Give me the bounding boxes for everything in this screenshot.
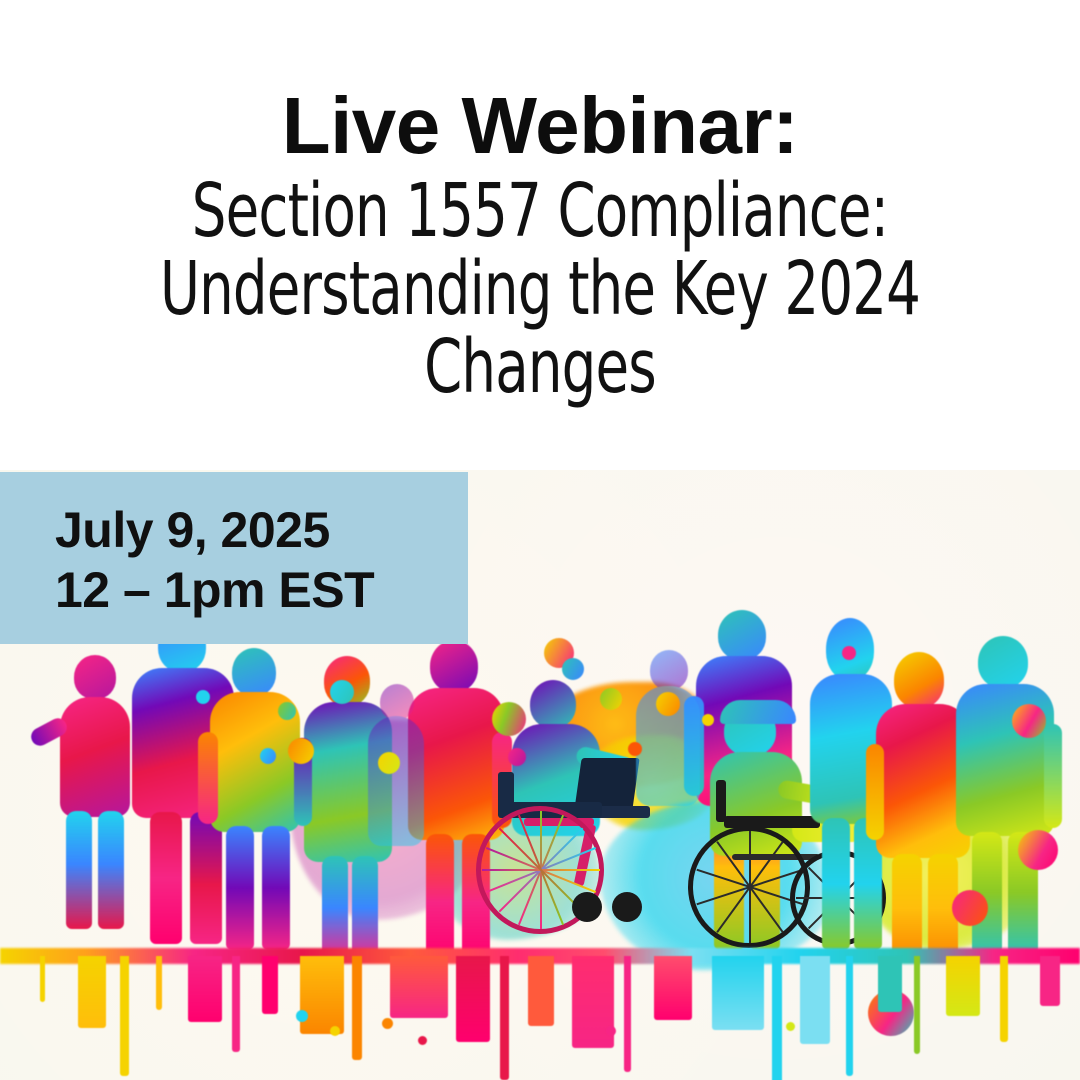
person-silhouette-12 (636, 650, 702, 820)
paint-dot (330, 1026, 340, 1036)
gradient-sphere-12 (1012, 704, 1046, 738)
paint-drip (120, 956, 129, 1076)
paint-drip (78, 956, 106, 1028)
person-silhouette-1 (52, 655, 138, 955)
paint-drip (1040, 956, 1060, 1006)
gradient-sphere-4 (600, 688, 622, 710)
page-subtitle: Section 1557 Compliance: Understanding t… (97, 172, 983, 406)
person-silhouette-13 (368, 684, 426, 864)
wheelchair-left-back (498, 772, 514, 818)
date-time-badge: July 9, 2025 12 – 1pm EST (0, 472, 468, 644)
paint-drip (156, 956, 162, 1010)
gradient-sphere-6 (508, 748, 526, 766)
gradient-sphere-5 (656, 692, 680, 716)
gradient-sphere-2 (562, 658, 584, 680)
gradient-sphere-9 (288, 738, 314, 764)
gradient-sphere-11 (260, 748, 276, 764)
wheelchair-left (468, 788, 658, 938)
page-title: Live Webinar: (0, 84, 1080, 168)
paint-drip (500, 956, 509, 1080)
paint-drip (300, 956, 344, 1034)
header-block: Live Webinar: Section 1557 Compliance: U… (0, 0, 1080, 470)
paint-dot (382, 1018, 393, 1029)
webinar-date: July 9, 2025 (55, 500, 374, 560)
paint-drip (1000, 956, 1008, 1042)
paint-drip (232, 956, 240, 1052)
paint-drip (624, 956, 631, 1072)
paint-drip (188, 956, 222, 1022)
gradient-sphere-3 (492, 702, 526, 736)
paint-drip (878, 956, 902, 1012)
wheelchair-left-caster-rear (612, 892, 642, 922)
cap-icon (720, 700, 796, 724)
paint-drip (712, 956, 764, 1030)
webinar-poster: Live Webinar: Section 1557 Compliance: U… (0, 0, 1080, 1080)
person-silhouette-3 (208, 648, 304, 960)
paint-drip (262, 956, 278, 1014)
gradient-sphere-14 (952, 890, 988, 926)
paint-dot (296, 1010, 308, 1022)
paint-drip (528, 956, 554, 1026)
date-time-text: July 9, 2025 12 – 1pm EST (55, 500, 374, 620)
paint-drip (800, 956, 830, 1044)
wheelchair-right-back (716, 780, 726, 822)
gradient-sphere-13 (1018, 830, 1058, 870)
wheelchair-left-caster-front (572, 892, 602, 922)
gradient-sphere-7 (330, 680, 354, 704)
paint-drip (772, 956, 782, 1080)
paint-drip (946, 956, 980, 1016)
subtitle-line-2: Understanding the Key 2024 (97, 250, 983, 328)
paint-drip (40, 956, 45, 1002)
paint-drip (846, 956, 853, 1076)
gradient-sphere-19 (196, 690, 210, 704)
gradient-sphere-17 (628, 742, 642, 756)
paint-dot (786, 1022, 795, 1031)
gradient-sphere-10 (378, 752, 400, 774)
paint-drip (654, 956, 692, 1020)
paint-drip (352, 956, 362, 1060)
paint-drip (914, 956, 920, 1054)
paint-drip (390, 956, 448, 1018)
paint-dot (418, 1036, 427, 1045)
webinar-time: 12 – 1pm EST (55, 560, 374, 620)
subtitle-line-1: Section 1557 Compliance: (97, 172, 983, 250)
paint-dot (606, 1026, 616, 1036)
subtitle-line-3: Changes (97, 328, 983, 406)
gradient-sphere-18 (702, 714, 714, 726)
paint-drip (456, 956, 490, 1042)
gradient-sphere-8 (278, 702, 296, 720)
gradient-sphere-16 (842, 646, 856, 660)
